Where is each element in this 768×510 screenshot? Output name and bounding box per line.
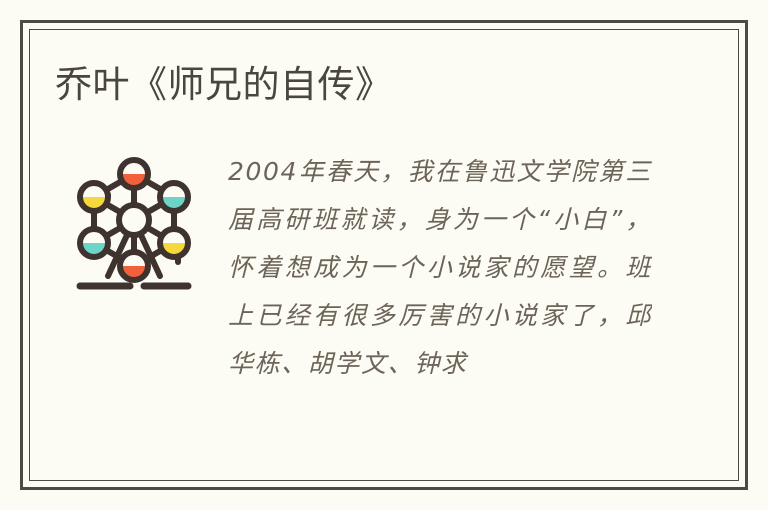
cabin-top (120, 160, 148, 188)
ferris-wheel-glyph (72, 152, 196, 292)
cabin-lower-right (160, 229, 188, 257)
article-body: 2004年春天，我在鲁迅文学院第三届高研班就读，身为一个“小白”，怀着想成为一个… (0, 148, 768, 408)
wheel-hub (119, 205, 149, 235)
cabin-lower-left (80, 229, 108, 257)
cabin-bottom (120, 252, 148, 280)
article-paragraph: 2004年春天，我在鲁迅文学院第三届高研班就读，身为一个“小白”，怀着想成为一个… (228, 148, 652, 400)
ferris-wheel-icon (72, 152, 196, 292)
cabin-upper-left (80, 183, 108, 211)
article-card: 乔叶《师兄的自传》 (0, 0, 768, 510)
cabin-upper-right (160, 183, 188, 211)
page-title: 乔叶《师兄的自传》 (55, 62, 393, 108)
